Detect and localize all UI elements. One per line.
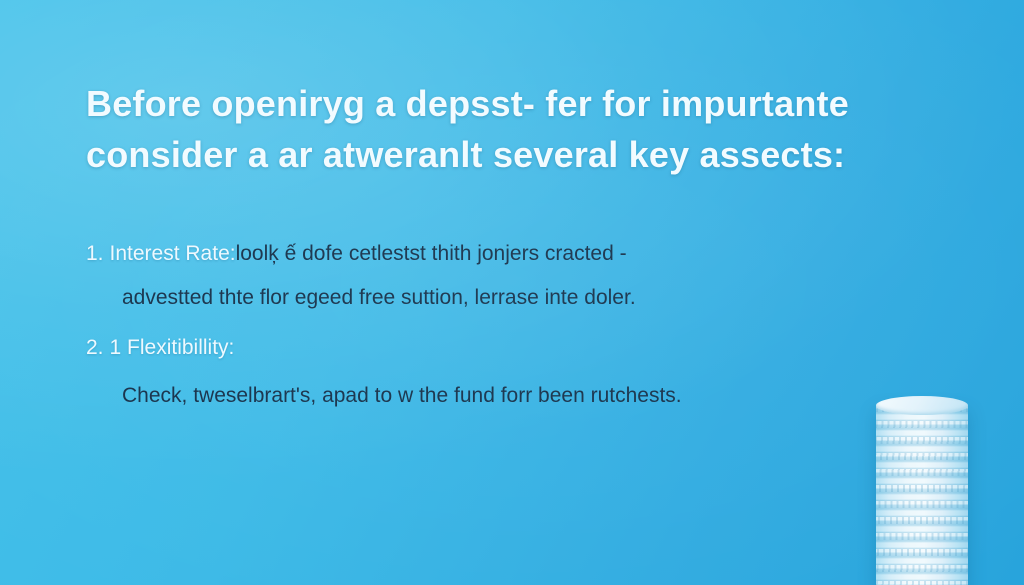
list-item-subline: advestted thte flor egeed free suttion, … — [122, 276, 916, 320]
list-item-number: 2. — [86, 336, 104, 359]
list-item-term: Interest Rate: — [110, 242, 236, 265]
coin-stack-icon — [876, 396, 968, 585]
list-item-main-line: 1.Interest Rate:loolķ ế dofe cetlestst t… — [86, 232, 916, 276]
coin-stack-top-face — [876, 396, 968, 415]
list-item: 1.Interest Rate:loolķ ế dofe cetlestst t… — [86, 232, 916, 320]
list-item-body: loolķ ế dofe cetlestst thith jonjers cra… — [236, 242, 627, 265]
list-item-main-line: 2.1 Flexitibillity: — [86, 326, 916, 370]
coin-stack-body — [876, 405, 968, 585]
page-title-line-2: consider a ar atweranlt several key asse… — [86, 129, 886, 180]
list-item-number: 1. — [86, 242, 104, 265]
page-title: Before openiryg a depsst- fer for impurt… — [86, 78, 886, 180]
page-title-line-1: Before openiryg a depsst- fer for impurt… — [86, 78, 886, 129]
key-aspects-list: 1.Interest Rate:loolķ ế dofe cetlestst t… — [86, 232, 916, 424]
list-item: 2.1 Flexitibillity: Check, tweselbrart's… — [86, 326, 916, 418]
list-item-subline: Check, tweselbrart's, apad to w the fund… — [122, 374, 916, 418]
list-item-term: 1 Flexitibillity: — [110, 336, 235, 359]
slide-canvas: Before openiryg a depsst- fer for impurt… — [0, 0, 1024, 585]
